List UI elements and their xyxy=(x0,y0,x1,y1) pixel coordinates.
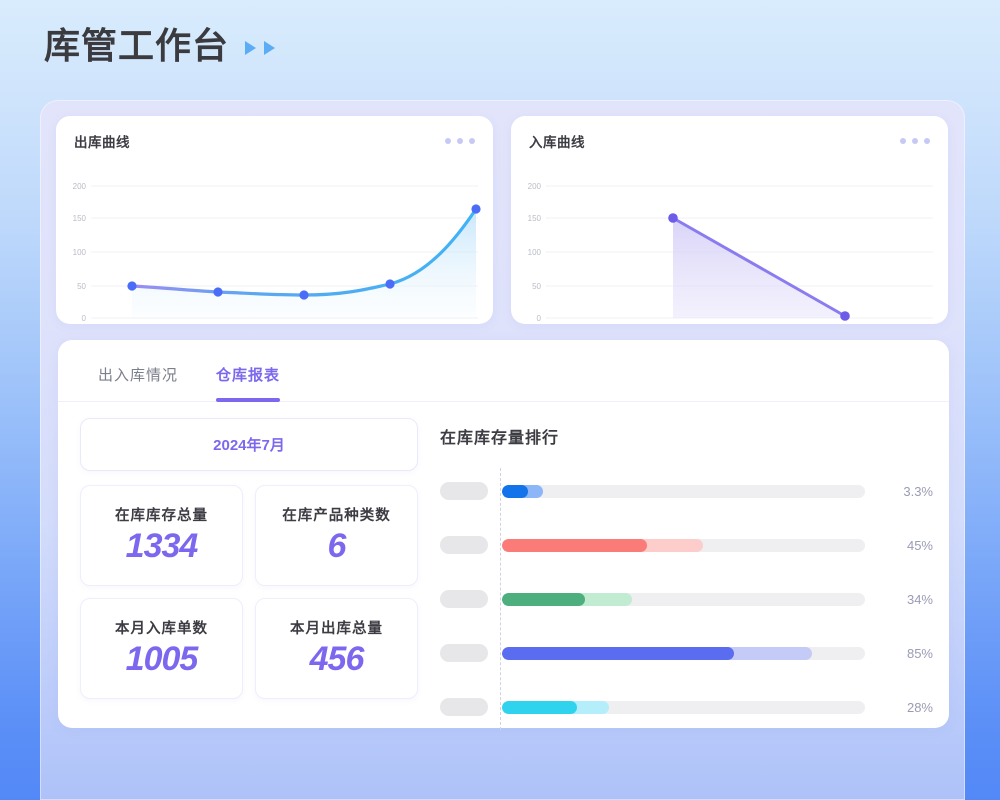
stat-card-product-types[interactable]: 在库产品种类数 6 xyxy=(255,485,418,586)
ranking-bar-fill-primary xyxy=(502,485,528,498)
ranking-item-label-placeholder xyxy=(440,590,488,608)
stat-card-inbound-orders[interactable]: 本月入库单数 1005 xyxy=(80,598,243,699)
outbound-chart-title: 出库曲线 xyxy=(74,131,130,151)
stat-card-total-stock[interactable]: 在库库存总量 1334 xyxy=(80,485,243,586)
svg-text:0: 0 xyxy=(537,314,542,323)
stats-column: 2024年7月 在库库存总量 1334 在库产品种类数 6 本月入库单数 100… xyxy=(58,418,418,734)
more-dots-icon[interactable] xyxy=(445,138,475,144)
ranking-percent-label: 34% xyxy=(879,592,933,607)
outbound-chart-plot: 200 150 100 50 0 1月 2月 3月 4月 xyxy=(56,154,493,324)
svg-text:100: 100 xyxy=(73,248,87,257)
stat-value: 456 xyxy=(310,640,364,679)
svg-text:0: 0 xyxy=(82,314,87,323)
svg-text:50: 50 xyxy=(532,282,541,291)
ranking-column: 在库库存量排行 3.3%45%34%85%28% xyxy=(418,418,949,734)
ranking-percent-label: 85% xyxy=(879,646,933,661)
report-tabs: 出入库情况 仓库报表 xyxy=(58,340,949,402)
ranking-bar-fill-primary xyxy=(502,701,577,714)
ranking-percent-label: 45% xyxy=(879,538,933,553)
stat-grid: 在库库存总量 1334 在库产品种类数 6 本月入库单数 1005 本月出库总量… xyxy=(80,485,418,699)
double-chevron-right-icon xyxy=(243,38,278,58)
ranking-row[interactable]: 45% xyxy=(440,518,933,572)
ranking-percent-label: 28% xyxy=(879,700,933,715)
page-title: 库管工作台 xyxy=(44,28,229,64)
more-dots-icon[interactable] xyxy=(900,138,930,144)
svg-text:100: 100 xyxy=(528,248,542,257)
ranking-item-label-placeholder xyxy=(440,482,488,500)
outbound-chart-card: 出库曲线 xyxy=(56,116,493,324)
svg-text:200: 200 xyxy=(528,182,542,191)
inbound-chart-header: 入库曲线 xyxy=(511,116,948,151)
stat-value: 1334 xyxy=(126,527,198,566)
inbound-chart-title: 入库曲线 xyxy=(529,131,585,151)
ranking-item-label-placeholder xyxy=(440,536,488,554)
outbound-chart-header: 出库曲线 xyxy=(56,116,493,151)
stat-label: 在库产品种类数 xyxy=(282,504,391,525)
ranking-row[interactable]: 85% xyxy=(440,626,933,680)
report-card: 出入库情况 仓库报表 2024年7月 在库库存总量 1334 在库产品种类数 6… xyxy=(58,340,949,728)
ranking-bar-fill-primary xyxy=(502,539,647,552)
svg-text:150: 150 xyxy=(73,214,87,223)
ranking-bar-track xyxy=(502,485,865,498)
stat-value: 6 xyxy=(328,527,346,566)
inbound-chart-card: 入库曲线 200 150 100 xyxy=(511,116,948,324)
ranking-percent-label: 3.3% xyxy=(879,484,933,499)
ranking-bar-track xyxy=(502,539,865,552)
date-selector[interactable]: 2024年7月 xyxy=(80,418,418,471)
svg-text:50: 50 xyxy=(77,282,86,291)
tab-warehouse-report[interactable]: 仓库报表 xyxy=(216,364,280,401)
ranking-title: 在库库存量排行 xyxy=(440,424,933,448)
ranking-bar-fill-primary xyxy=(502,593,585,606)
ranking-list: 3.3%45%34%85%28% xyxy=(440,464,933,734)
stat-value: 1005 xyxy=(126,640,198,679)
ranking-item-label-placeholder xyxy=(440,698,488,716)
stat-label: 本月入库单数 xyxy=(115,617,208,638)
report-body: 2024年7月 在库库存总量 1334 在库产品种类数 6 本月入库单数 100… xyxy=(58,402,949,734)
ranking-item-label-placeholder xyxy=(440,644,488,662)
inbound-chart-plot: 200 150 100 50 0 1月 2月 3月 4月 5月 xyxy=(511,154,948,324)
page-header: 库管工作台 xyxy=(44,28,278,64)
ranking-bar-fill-primary xyxy=(502,647,734,660)
svg-text:150: 150 xyxy=(528,214,542,223)
ranking-row[interactable]: 28% xyxy=(440,680,933,734)
ranking-row[interactable]: 3.3% xyxy=(440,464,933,518)
ranking-bar-track xyxy=(502,701,865,714)
ranking-row[interactable]: 34% xyxy=(440,572,933,626)
stat-label: 在库库存总量 xyxy=(115,504,208,525)
tab-inout-status[interactable]: 出入库情况 xyxy=(98,364,178,401)
stat-card-outbound-total[interactable]: 本月出库总量 456 xyxy=(255,598,418,699)
charts-row: 出库曲线 xyxy=(56,116,949,324)
ranking-bar-track xyxy=(502,647,865,660)
stat-label: 本月出库总量 xyxy=(290,617,383,638)
ranking-bar-track xyxy=(502,593,865,606)
svg-text:200: 200 xyxy=(73,182,87,191)
